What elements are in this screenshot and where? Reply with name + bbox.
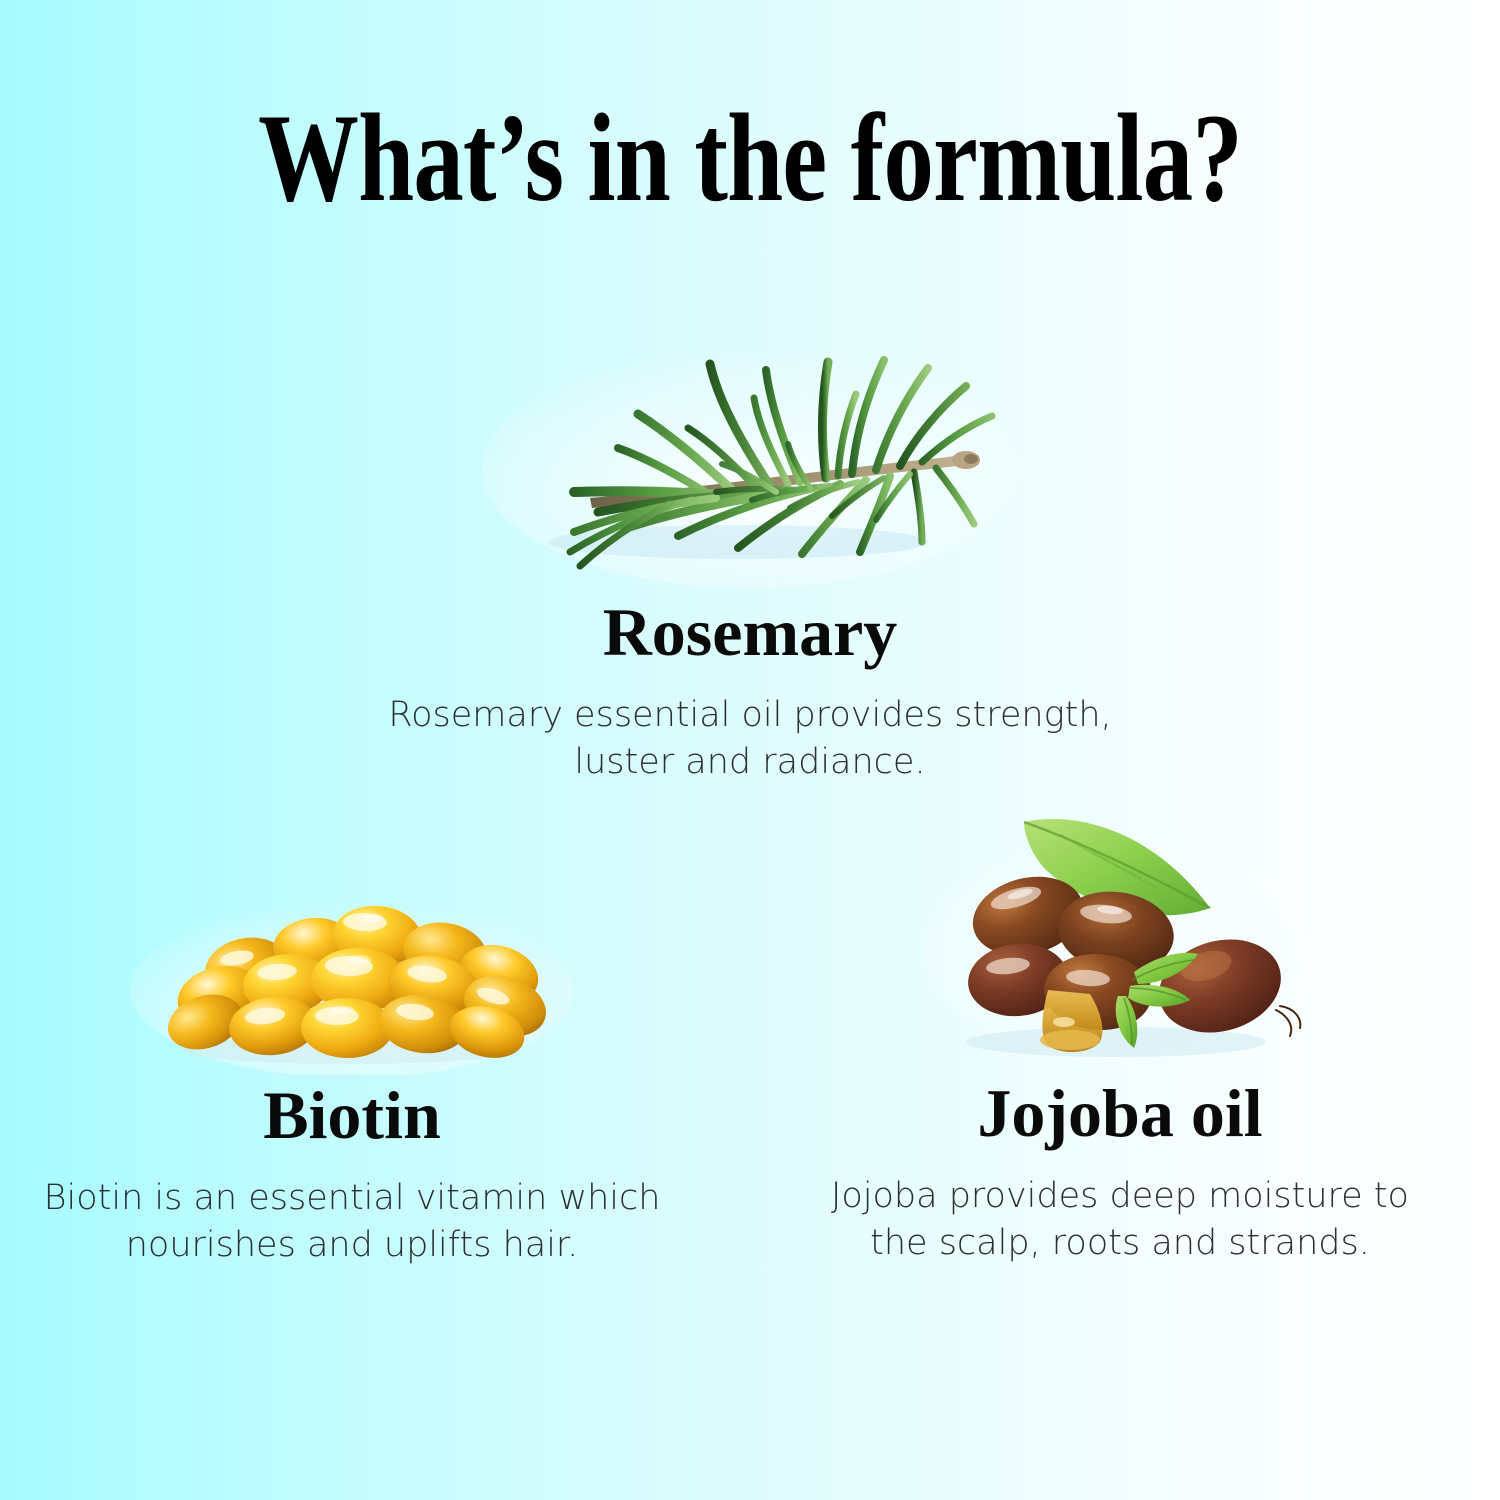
rosemary-sprig-image — [470, 290, 1030, 590]
ingredient-card-biotin: Biotin Biotin is an essential vitamin wh… — [42, 860, 662, 1269]
ingredient-card-jojoba: Jojoba oil Jojoba provides deep moisture… — [810, 790, 1430, 1267]
jojoba-seeds-image — [920, 790, 1320, 1075]
biotin-capsules-image — [127, 860, 577, 1075]
ingredient-description-biotin: Biotin is an essential vitamin which nou… — [42, 1175, 662, 1269]
ingredient-name-biotin: Biotin — [42, 1081, 662, 1149]
ingredient-description-rosemary: Rosemary essential oil provides strength… — [375, 692, 1125, 786]
ingredient-infographic-poster: What’s in the formula? — [0, 0, 1500, 1500]
ingredient-description-jojoba: Jojoba provides deep moisture to the sca… — [810, 1173, 1430, 1267]
page-title: What’s in the formula? — [150, 96, 1350, 222]
ingredient-name-rosemary: Rosemary — [375, 598, 1125, 666]
ingredient-name-jojoba: Jojoba oil — [810, 1079, 1430, 1147]
ingredient-card-rosemary: Rosemary Rosemary essential oil provides… — [375, 290, 1125, 786]
